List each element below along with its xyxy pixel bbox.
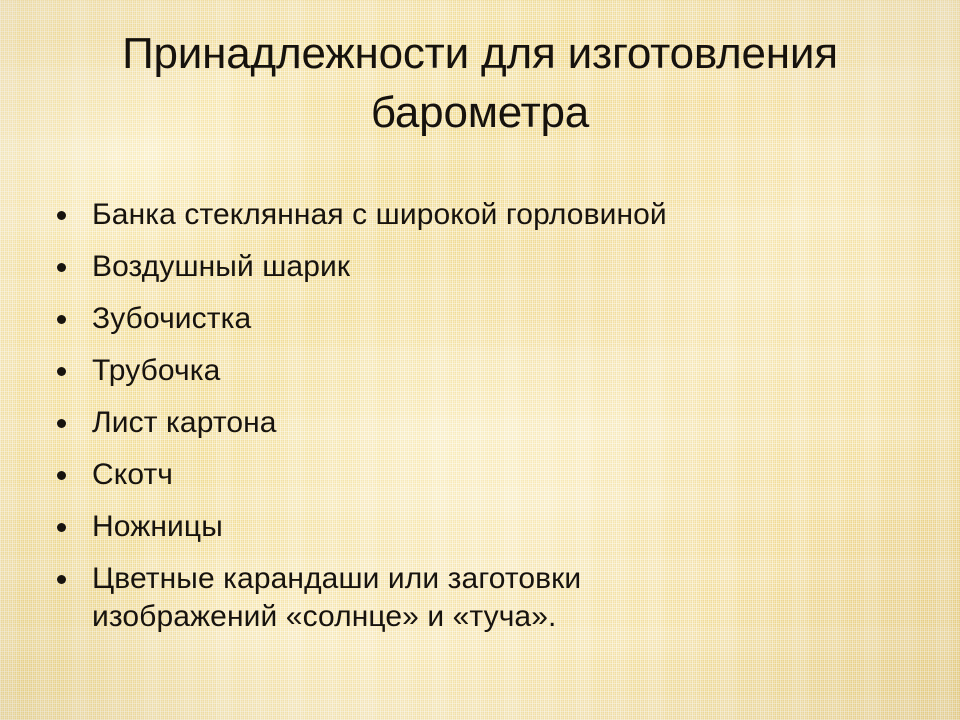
list-item: Цветные карандаши или заготовки изображе…	[48, 560, 908, 636]
list-item-label: Лист картона	[92, 404, 908, 442]
list-item-label: Цветные карандаши или заготовки изображе…	[92, 560, 908, 636]
list-item: Зубочистка	[48, 300, 908, 338]
list-item: Скотч	[48, 456, 908, 494]
list-item-label: Зубочистка	[92, 300, 908, 338]
slide-title: Принадлежности для изготовления барометр…	[60, 24, 900, 142]
materials-bullet-list: Банка стеклянная с широкой горловиной Во…	[48, 196, 908, 636]
bullet-dot-icon	[57, 263, 66, 272]
bullet-dot-icon	[57, 575, 66, 584]
slide-title-line-2: барометра	[60, 83, 900, 142]
bullet-dot-icon	[57, 315, 66, 324]
list-item-label: Банка стеклянная с широкой горловиной	[92, 196, 908, 234]
list-item-label: Воздушный шарик	[92, 248, 908, 286]
bullet-dot-icon	[57, 367, 66, 376]
list-item-label-line-2: изображений «солнце» и «туча».	[92, 598, 908, 636]
list-item: Банка стеклянная с широкой горловиной	[48, 196, 908, 234]
bullet-dot-icon	[57, 419, 66, 428]
bullet-dot-icon	[57, 471, 66, 480]
slide-title-line-1: Принадлежности для изготовления	[60, 24, 900, 83]
bullet-dot-icon	[57, 211, 66, 220]
bullet-dot-icon	[57, 523, 66, 532]
list-item: Трубочка	[48, 352, 908, 390]
list-item-label-line-1: Цветные карандаши или заготовки	[92, 560, 908, 598]
slide-content: Принадлежности для изготовления барометр…	[0, 0, 960, 720]
presentation-slide: Принадлежности для изготовления барометр…	[0, 0, 960, 720]
list-item-label: Ножницы	[92, 508, 908, 546]
list-item: Лист картона	[48, 404, 908, 442]
list-item: Ножницы	[48, 508, 908, 546]
list-item: Воздушный шарик	[48, 248, 908, 286]
list-item-label: Скотч	[92, 456, 908, 494]
list-item-label: Трубочка	[92, 352, 908, 390]
